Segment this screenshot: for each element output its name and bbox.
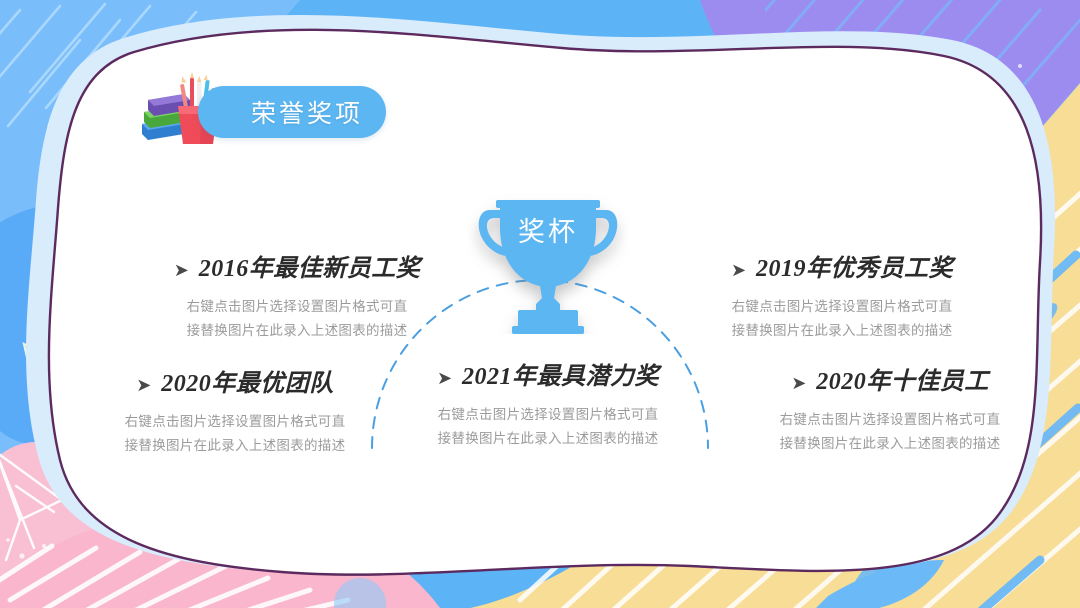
award-description-line: 右键点击图片选择设置图片格式可直: [692, 295, 992, 319]
award-title: 2020年最优团队: [161, 363, 334, 398]
award-description: 右键点击图片选择设置图片格式可直 接替换图片在此录入上述图表的描述: [147, 295, 447, 342]
award-item: ➤ 2019年优秀员工奖 右键点击图片选择设置图片格式可直 接替换图片在此录入上…: [692, 248, 992, 342]
award-heading: ➤ 2019年优秀员工奖: [692, 248, 992, 283]
award-description: 右键点击图片选择设置图片格式可直 接替换图片在此录入上述图表的描述: [398, 403, 698, 450]
trophy-emblem: 奖杯: [468, 186, 628, 334]
award-title: 2020年十佳员工: [816, 361, 989, 396]
award-description-line: 接替换图片在此录入上述图表的描述: [85, 434, 385, 458]
section-title-pill[interactable]: 荣誉奖项: [198, 86, 386, 138]
bullet-arrow-icon: ➤: [731, 262, 746, 280]
bullet-arrow-icon: ➤: [174, 262, 189, 280]
award-item: ➤ 2020年最优团队 右键点击图片选择设置图片格式可直 接替换图片在此录入上述…: [85, 363, 385, 457]
award-heading: ➤ 2020年十佳员工: [740, 361, 1040, 396]
section-header: 荣誉奖项: [138, 72, 386, 152]
award-heading: ➤ 2021年最具潜力奖: [398, 356, 698, 391]
award-description-line: 接替换图片在此录入上述图表的描述: [692, 319, 992, 343]
award-description-line: 接替换图片在此录入上述图表的描述: [740, 432, 1040, 456]
award-description: 右键点击图片选择设置图片格式可直 接替换图片在此录入上述图表的描述: [740, 408, 1040, 455]
bullet-arrow-icon: ➤: [791, 375, 806, 393]
award-description-line: 右键点击图片选择设置图片格式可直: [85, 410, 385, 434]
award-description-line: 接替换图片在此录入上述图表的描述: [147, 319, 447, 343]
award-description: 右键点击图片选择设置图片格式可直 接替换图片在此录入上述图表的描述: [692, 295, 992, 342]
award-heading: ➤ 2020年最优团队: [85, 363, 385, 398]
award-item: ➤ 2016年最佳新员工奖 右键点击图片选择设置图片格式可直 接替换图片在此录入…: [147, 248, 447, 342]
bullet-arrow-icon: ➤: [136, 377, 151, 395]
award-title: 2019年优秀员工奖: [756, 248, 953, 283]
award-description-line: 右键点击图片选择设置图片格式可直: [147, 295, 447, 319]
section-title-text: 荣誉奖项: [221, 94, 363, 130]
award-description-line: 接替换图片在此录入上述图表的描述: [398, 427, 698, 451]
award-heading: ➤ 2016年最佳新员工奖: [147, 248, 447, 283]
award-description-line: 右键点击图片选择设置图片格式可直: [398, 403, 698, 427]
bullet-arrow-icon: ➤: [437, 370, 452, 388]
award-item: ➤ 2021年最具潜力奖 右键点击图片选择设置图片格式可直 接替换图片在此录入上…: [398, 356, 698, 450]
award-title: 2021年最具潜力奖: [462, 356, 659, 391]
trophy-icon: [468, 186, 628, 334]
award-description: 右键点击图片选择设置图片格式可直 接替换图片在此录入上述图表的描述: [85, 410, 385, 457]
award-item: ➤ 2020年十佳员工 右键点击图片选择设置图片格式可直 接替换图片在此录入上述…: [740, 361, 1040, 455]
slide-canvas: 荣誉奖项 奖: [0, 0, 1080, 608]
award-title: 2016年最佳新员工奖: [199, 248, 421, 283]
award-description-line: 右键点击图片选择设置图片格式可直: [740, 408, 1040, 432]
